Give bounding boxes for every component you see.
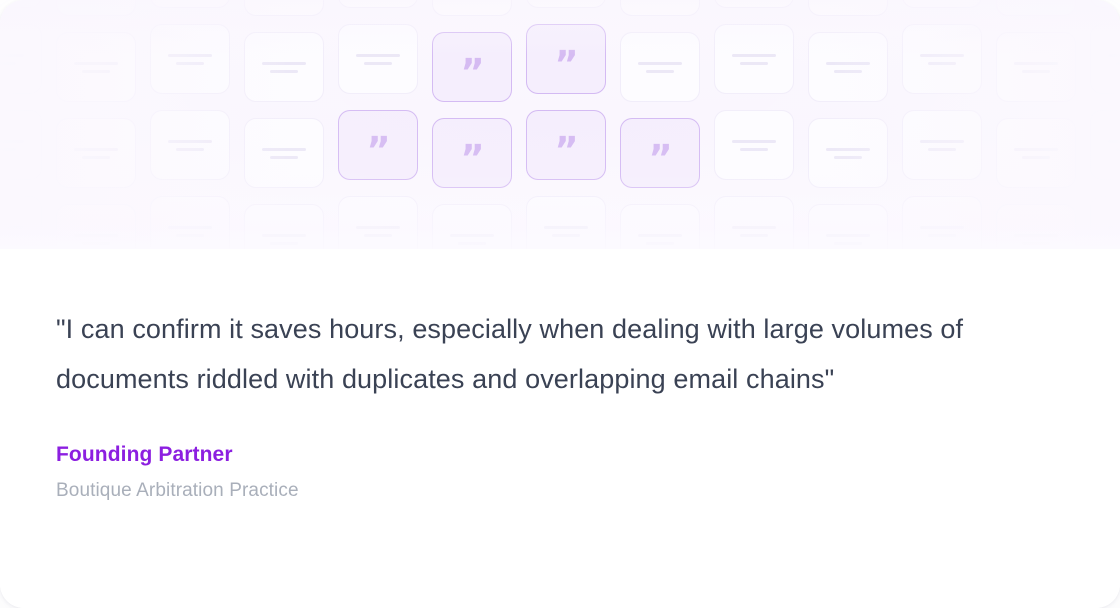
banner-quote-tile: ” (620, 118, 700, 188)
quote-mark-icon: ” (366, 140, 389, 163)
tile-text-line (356, 54, 400, 57)
attribution-role: Founding Partner (56, 440, 1064, 470)
tile-text-line (176, 234, 204, 237)
tile-text-line (1022, 70, 1050, 73)
banner-placeholder-tile (338, 196, 418, 249)
decorative-quote-grid-banner: ”””””” (0, 0, 1120, 249)
tile-text-line (262, 148, 306, 151)
tile-text-line (826, 62, 870, 65)
banner-placeholder-tile (996, 204, 1076, 249)
banner-placeholder-tile (808, 118, 888, 188)
tile-text-line (168, 54, 212, 57)
tile-text-line (834, 242, 862, 245)
banner-quote-tile: ” (338, 110, 418, 180)
banner-placeholder-tile (56, 204, 136, 249)
tile-text-line (176, 148, 204, 151)
tile-text-line (1108, 226, 1120, 229)
quote-mark-icon: ” (648, 148, 671, 171)
banner-placeholder-tile (996, 118, 1076, 188)
tile-text-line (920, 54, 964, 57)
tile-text-line (834, 156, 862, 159)
tile-text-line (920, 140, 964, 143)
banner-placeholder-tile (808, 0, 888, 16)
banner-placeholder-tile (0, 24, 42, 94)
banner-placeholder-tile (620, 0, 700, 16)
banner-placeholder-tile (714, 110, 794, 180)
tile-text-line (740, 148, 768, 151)
tile-text-line (168, 226, 212, 229)
tile-text-line (1014, 62, 1058, 65)
banner-placeholder-tile (150, 196, 230, 249)
attribution-organization: Boutique Arbitration Practice (56, 478, 1064, 504)
banner-placeholder-tile (244, 118, 324, 188)
tile-text-line (0, 62, 16, 65)
banner-placeholder-tile (56, 32, 136, 102)
tile-text-line (1022, 156, 1050, 159)
banner-placeholder-tile (1090, 110, 1120, 180)
tile-text-line (646, 242, 674, 245)
banner-placeholder-tile (0, 110, 42, 180)
testimonial-body: "I can confirm it saves hours, especiall… (0, 249, 1120, 608)
tile-text-line (544, 226, 588, 229)
banner-placeholder-tile (808, 204, 888, 249)
tile-text-line (270, 156, 298, 159)
tile-text-line (638, 62, 682, 65)
banner-placeholder-tile (244, 32, 324, 102)
tile-text-line (82, 156, 110, 159)
tile-text-line (928, 62, 956, 65)
banner-placeholder-tile (902, 24, 982, 94)
tile-text-line (74, 234, 118, 237)
tile-text-line (1116, 148, 1120, 151)
tile-text-line (0, 54, 24, 57)
tile-text-line (270, 70, 298, 73)
tile-text-line (1108, 54, 1120, 57)
banner-placeholder-tile (996, 32, 1076, 102)
banner-tile-grid: ”””””” (0, 0, 1120, 249)
banner-placeholder-tile (56, 118, 136, 188)
tile-text-line (552, 234, 580, 237)
banner-placeholder-tile (902, 0, 982, 8)
tile-text-line (0, 234, 16, 237)
tile-text-line (834, 70, 862, 73)
tile-text-line (168, 140, 212, 143)
tile-text-line (732, 140, 776, 143)
tile-text-line (1108, 140, 1120, 143)
banner-placeholder-tile (714, 24, 794, 94)
testimonial-quote-text: "I can confirm it saves hours, especiall… (56, 304, 1016, 404)
tile-text-line (1014, 148, 1058, 151)
banner-quote-tile: ” (432, 32, 512, 102)
tile-text-line (82, 242, 110, 245)
banner-placeholder-tile (996, 0, 1076, 16)
tile-text-line (74, 148, 118, 151)
banner-placeholder-tile (620, 32, 700, 102)
tile-text-line (928, 234, 956, 237)
testimonial-card: ”””””” "I can confirm it saves hours, es… (0, 0, 1120, 608)
banner-placeholder-tile (432, 0, 512, 16)
banner-quote-tile: ” (526, 24, 606, 94)
banner-placeholder-tile (902, 110, 982, 180)
tile-text-line (1116, 62, 1120, 65)
banner-placeholder-tile (338, 0, 418, 8)
tile-text-line (82, 70, 110, 73)
banner-placeholder-tile (432, 204, 512, 249)
quote-mark-icon: ” (554, 140, 577, 163)
tile-text-line (732, 226, 776, 229)
banner-placeholder-tile (0, 196, 42, 249)
banner-placeholder-tile (808, 32, 888, 102)
banner-quote-tile: ” (526, 110, 606, 180)
tile-text-line (364, 234, 392, 237)
banner-placeholder-tile (714, 196, 794, 249)
tile-text-line (646, 70, 674, 73)
tile-text-line (270, 242, 298, 245)
tile-text-line (638, 234, 682, 237)
banner-placeholder-tile (244, 0, 324, 16)
banner-placeholder-tile (620, 204, 700, 249)
tile-text-line (826, 148, 870, 151)
banner-placeholder-tile (244, 204, 324, 249)
testimonial-attribution: Founding Partner Boutique Arbitration Pr… (56, 440, 1064, 504)
tile-text-line (732, 54, 776, 57)
banner-placeholder-tile (1090, 0, 1120, 8)
tile-text-line (1014, 234, 1058, 237)
tile-text-line (176, 62, 204, 65)
banner-placeholder-tile (714, 0, 794, 8)
tile-text-line (928, 148, 956, 151)
banner-placeholder-tile (902, 196, 982, 249)
banner-placeholder-tile (0, 0, 42, 8)
tile-text-line (1022, 242, 1050, 245)
quote-mark-icon: ” (554, 54, 577, 77)
tile-text-line (0, 140, 24, 143)
banner-placeholder-tile (150, 110, 230, 180)
tile-text-line (740, 234, 768, 237)
banner-placeholder-tile (56, 0, 136, 16)
tile-text-line (262, 62, 306, 65)
tile-text-line (740, 62, 768, 65)
tile-text-line (920, 226, 964, 229)
banner-placeholder-tile (526, 196, 606, 249)
tile-text-line (450, 234, 494, 237)
tile-text-line (458, 242, 486, 245)
tile-text-line (262, 234, 306, 237)
quote-mark-icon: ” (460, 148, 483, 171)
tile-text-line (0, 226, 24, 229)
tile-text-line (0, 148, 16, 151)
quote-mark-icon: ” (460, 62, 483, 85)
banner-placeholder-tile (1090, 24, 1120, 94)
banner-placeholder-tile (338, 24, 418, 94)
banner-placeholder-tile (150, 24, 230, 94)
tile-text-line (356, 226, 400, 229)
banner-placeholder-tile (526, 0, 606, 8)
banner-quote-tile: ” (432, 118, 512, 188)
tile-text-line (74, 62, 118, 65)
banner-placeholder-tile (1090, 196, 1120, 249)
tile-text-line (1116, 234, 1120, 237)
tile-text-line (826, 234, 870, 237)
tile-text-line (364, 62, 392, 65)
banner-placeholder-tile (150, 0, 230, 8)
